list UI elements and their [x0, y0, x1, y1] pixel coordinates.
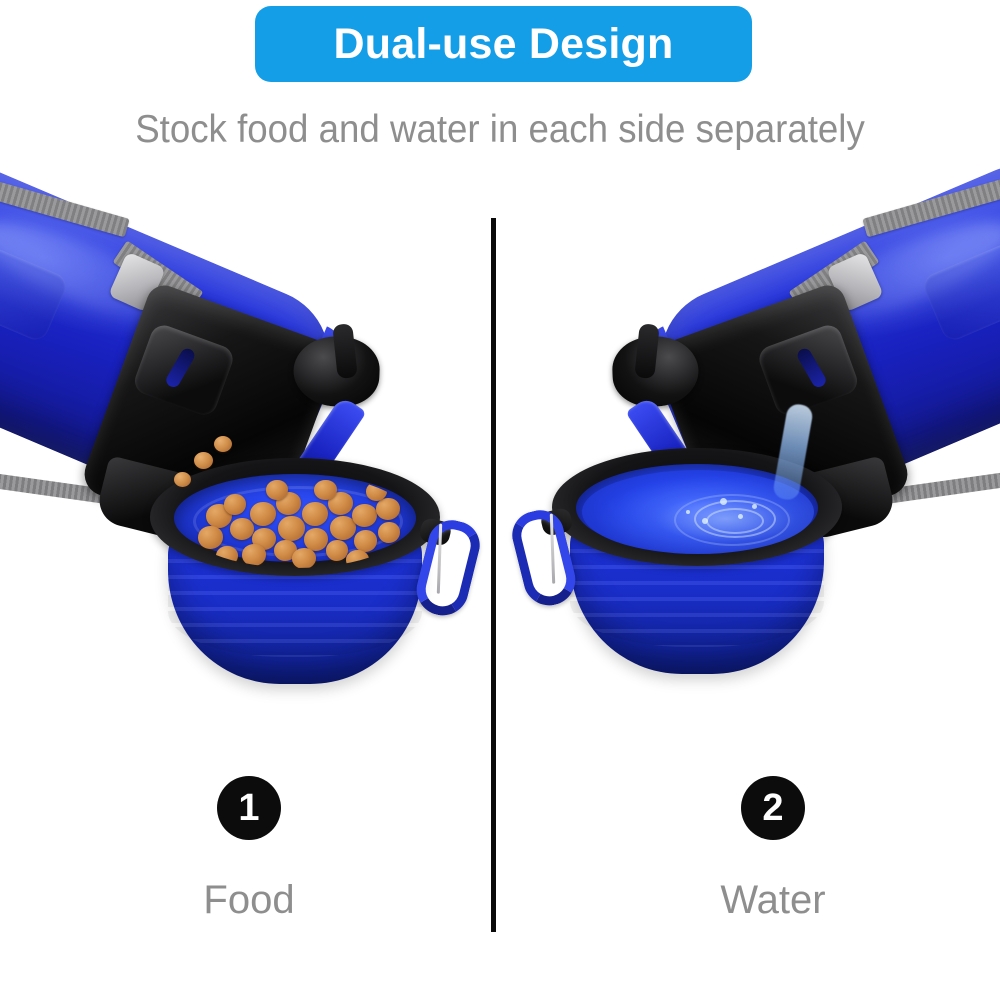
step-number-badge: 1	[217, 776, 281, 840]
step-number-badge: 2	[741, 776, 805, 840]
step-label-water: Water	[673, 878, 873, 923]
title-banner: Dual-use Design	[255, 6, 752, 82]
step-food: 1 Food	[149, 776, 349, 923]
collapsible-bowl-food	[150, 458, 440, 688]
falling-kibble	[174, 472, 191, 487]
collapsible-bowl-water	[552, 448, 842, 678]
falling-kibble	[194, 452, 213, 469]
step-label-food: Food	[149, 878, 349, 923]
page-title: Dual-use Design	[334, 20, 674, 69]
carabiner-clip	[411, 515, 485, 621]
subtitle-text: Stock food and water in each side separa…	[30, 108, 970, 152]
panel-food	[0, 180, 492, 800]
step-water: 2 Water	[673, 776, 873, 923]
dispenser-cap-tab	[332, 323, 358, 379]
product-feature-image: Dual-use Design Stock food and water in …	[0, 0, 1000, 1000]
falling-kibble	[214, 436, 232, 452]
carabiner-clip	[507, 505, 581, 611]
panel-water	[500, 180, 992, 800]
kibble-pile	[180, 474, 412, 568]
